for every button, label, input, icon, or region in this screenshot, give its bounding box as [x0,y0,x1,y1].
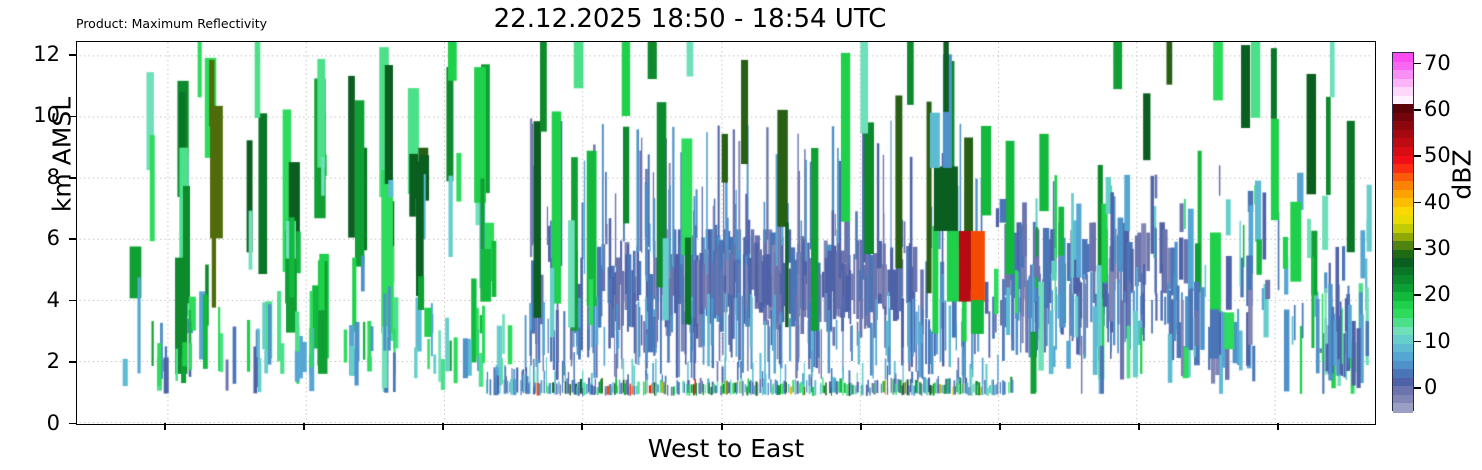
colorbar-tick-mark [1414,387,1421,389]
plot-area [76,41,1376,425]
page-title: 22.12.2025 18:50 - 18:54 UTC [0,4,1380,34]
colorbar-tick-mark [1414,155,1421,157]
colorbar-tick-label: 70 [1424,53,1451,74]
y-axis-label: km AMSL [48,45,77,265]
colorbar [1392,52,1414,411]
y-tick-mark [69,423,76,425]
colorbar-tick-mark [1414,109,1421,111]
colorbar-tick-label: 20 [1424,284,1451,305]
x-axis-label: West to East [76,434,1376,463]
x-tick-mark [999,423,1001,430]
colorbar-tick-label: 10 [1424,331,1451,352]
x-tick-mark [721,423,723,430]
colorbar-tick-mark [1414,202,1421,204]
y-tick-label: 0 [14,413,60,434]
colorbar-label: dBZ [1448,85,1477,265]
y-tick-label: 2 [14,351,60,372]
colorbar-tick-mark [1414,63,1421,65]
reflectivity-heatmap [77,42,1374,423]
x-tick-mark [303,423,305,430]
colorbar-tick-mark [1414,341,1421,343]
y-tick-mark [69,361,76,363]
x-tick-mark [581,423,583,430]
y-tick-label: 4 [14,290,60,311]
x-tick-mark [164,423,166,430]
x-tick-mark [442,423,444,430]
y-tick-mark [69,300,76,302]
colorbar-tick-label: 0 [1424,377,1437,398]
x-tick-mark [860,423,862,430]
colorbar-tick-mark [1414,248,1421,250]
x-tick-mark [1277,423,1279,430]
colorbar-segment [1393,403,1413,412]
x-tick-mark [1138,423,1140,430]
colorbar-gradient [1392,52,1414,411]
radar-cross-section-figure: Product: Maximum Reflectivity 22.12.2025… [0,0,1482,470]
colorbar-tick-mark [1414,294,1421,296]
